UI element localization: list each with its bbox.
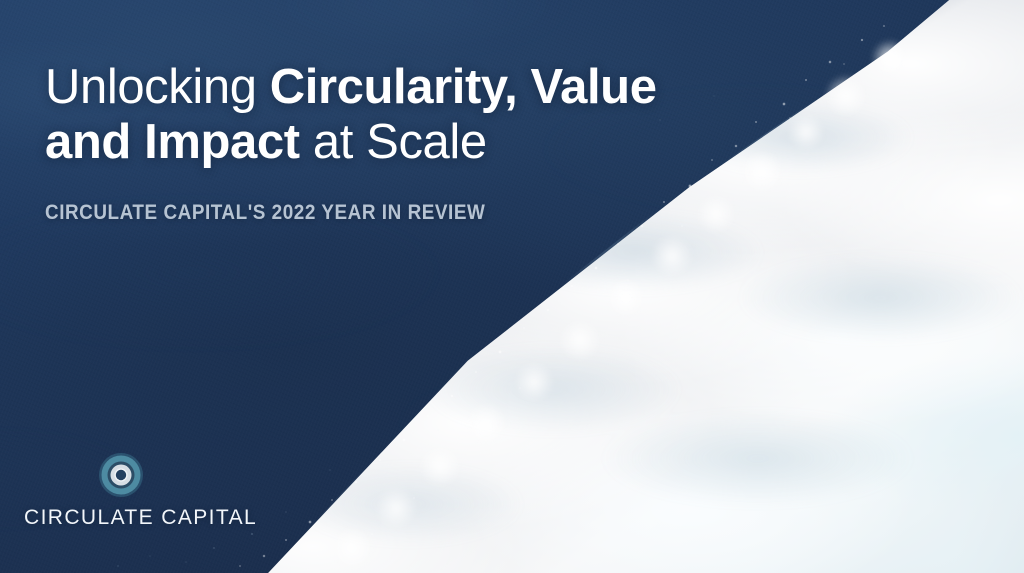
subtitle: CIRCULATE CAPITAL'S 2022 YEAR IN REVIEW — [45, 201, 485, 225]
headline-part-regular-trailing: at Scale — [300, 115, 487, 169]
headline-part-regular-leading: Unlocking — [45, 60, 270, 114]
brand-logo: CIRCULATE CAPITAL — [24, 452, 218, 530]
circulate-capital-circle-icon — [98, 452, 144, 498]
title-slide: Unlocking Circularity, Value and Impact … — [0, 0, 1024, 573]
logo-wordmark: CIRCULATE CAPITAL — [24, 506, 218, 530]
page-title: Unlocking Circularity, Value and Impact … — [45, 60, 665, 170]
